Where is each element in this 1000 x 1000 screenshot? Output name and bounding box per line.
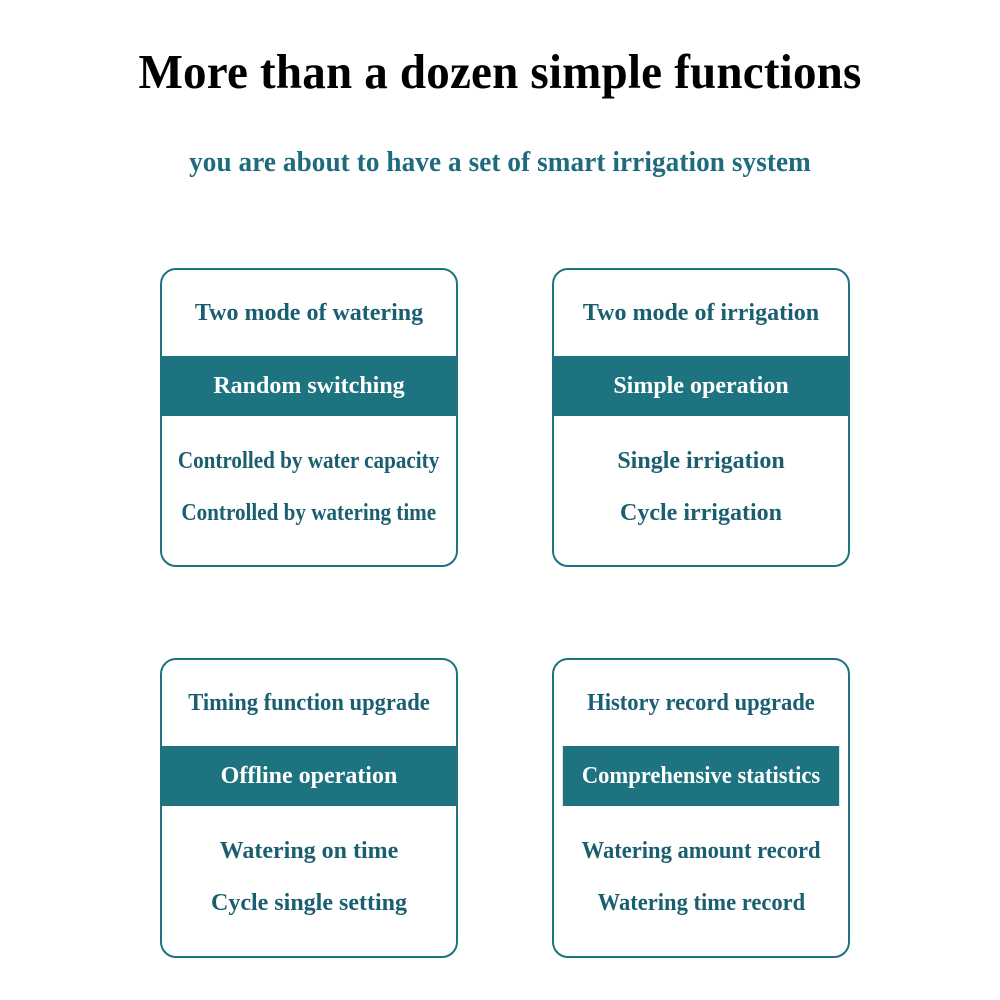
- card-line: Single irrigation: [617, 446, 784, 476]
- card-line: Controlled by water capacity: [178, 446, 439, 476]
- card-body: Watering on time Cycle single setting: [162, 806, 456, 956]
- card-line: Watering amount record: [582, 836, 821, 866]
- card-highlight-band: Offline operation: [162, 746, 456, 806]
- feature-card-two-mode-of-watering[interactable]: Two mode of watering Random switching Co…: [160, 268, 458, 567]
- feature-grid-page: More than a dozen simple functions you a…: [0, 0, 1000, 1000]
- card-line: Watering on time: [220, 836, 399, 866]
- card-title: Two mode of irrigation: [554, 270, 848, 356]
- card-title: Timing function upgrade: [171, 660, 447, 746]
- card-body: Watering amount record Watering time rec…: [554, 806, 848, 956]
- card-body: Controlled by water capacity Controlled …: [162, 416, 456, 565]
- page-subtitle: you are about to have a set of smart irr…: [15, 102, 985, 180]
- feature-card-timing-function-upgrade[interactable]: Timing function upgrade Offline operatio…: [160, 658, 458, 958]
- card-line: Controlled by watering time: [182, 498, 437, 528]
- page-header: More than a dozen simple functions you a…: [0, 0, 1000, 180]
- card-body: Single irrigation Cycle irrigation: [554, 416, 848, 565]
- card-line: Cycle irrigation: [620, 498, 782, 528]
- card-title: History record upgrade: [563, 660, 839, 746]
- feature-card-history-record-upgrade[interactable]: History record upgrade Comprehensive sta…: [552, 658, 850, 958]
- feature-card-two-mode-of-irrigation[interactable]: Two mode of irrigation Simple operation …: [552, 268, 850, 567]
- page-title: More than a dozen simple functions: [20, 0, 980, 102]
- card-highlight-band: Comprehensive statistics: [563, 746, 839, 806]
- card-title: Two mode of watering: [162, 270, 456, 356]
- card-highlight-band: Random switching: [162, 356, 456, 416]
- card-highlight-band: Simple operation: [554, 356, 848, 416]
- card-line: Watering time record: [597, 888, 805, 918]
- card-line: Cycle single setting: [211, 888, 407, 918]
- feature-card-grid: Two mode of watering Random switching Co…: [160, 268, 850, 960]
